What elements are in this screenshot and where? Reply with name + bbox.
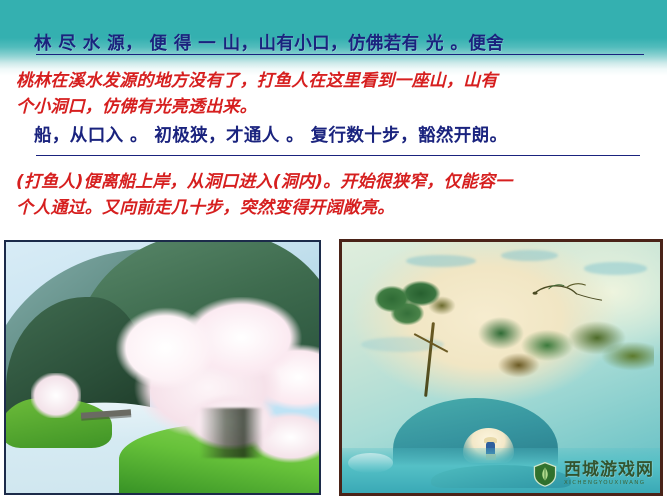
- vernacular-text-2-line-2: 个人通过。又向前走几十步，突然变得开阔敞亮。: [16, 193, 394, 218]
- vernacular-text-2-line-1: (打鱼人)便离船上岸，从洞口进入(洞内)。开始很狭窄，仅能容一: [16, 167, 512, 192]
- text-content-area: 林 尽 水 源， 便 得 一 山，山有小口，仿佛若有 光 。便舍 桃林在溪水发源…: [0, 0, 667, 228]
- tree-trunk-shadow: [200, 408, 263, 458]
- vernacular-text-1-line-2: 个小洞口，仿佛有光亮透出来。: [16, 92, 257, 117]
- right-foliage-cluster: [476, 312, 654, 387]
- vernacular-text-1-line-1: 桃林在溪水发源的地方没有了，打鱼人在这里看到一座山，山有: [16, 66, 498, 91]
- underline-rule-1: [36, 54, 644, 55]
- painting-inner: 西城游戏网 XICHENGYOUXIWANG: [342, 242, 660, 493]
- ink-painting-cave-entrance: 西城游戏网 XICHENGYOUXIWANG: [339, 239, 663, 496]
- watermark-site-name-en: XICHENGYOUXIWANG: [564, 481, 654, 487]
- cloud-wisp-3: [584, 262, 648, 275]
- flying-crane-icon: [520, 280, 615, 305]
- photo-inner: [6, 242, 319, 493]
- classical-text-line-1: 林 尽 水 源， 便 得 一 山，山有小口，仿佛若有 光 。便舍: [34, 30, 504, 55]
- water-highlight: [348, 453, 393, 473]
- cloud-wisp-1: [406, 255, 476, 268]
- cherry-blossom-river-photo: [4, 240, 321, 495]
- underline-rule-2: [36, 155, 640, 156]
- upper-left-pine-tree: [367, 277, 462, 332]
- cloud-wisp-2: [501, 250, 558, 261]
- shield-leaf-icon: [532, 461, 558, 487]
- site-watermark: 西城游戏网 XICHENGYOUXIWANG: [532, 461, 654, 487]
- presentation-slide: 林 尽 水 源， 便 得 一 山，山有小口，仿佛若有 光 。便舍 桃林在溪水发源…: [0, 0, 667, 500]
- watermark-site-name-cn: 西城游戏网: [564, 462, 654, 479]
- cherry-blossom-distant: [31, 373, 81, 418]
- classical-text-line-2: 船，从口入 。 初极狭，才通人 。 复行数十步，豁然开朗。: [34, 122, 507, 147]
- watermark-text: 西城游戏网 XICHENGYOUXIWANG: [564, 462, 654, 487]
